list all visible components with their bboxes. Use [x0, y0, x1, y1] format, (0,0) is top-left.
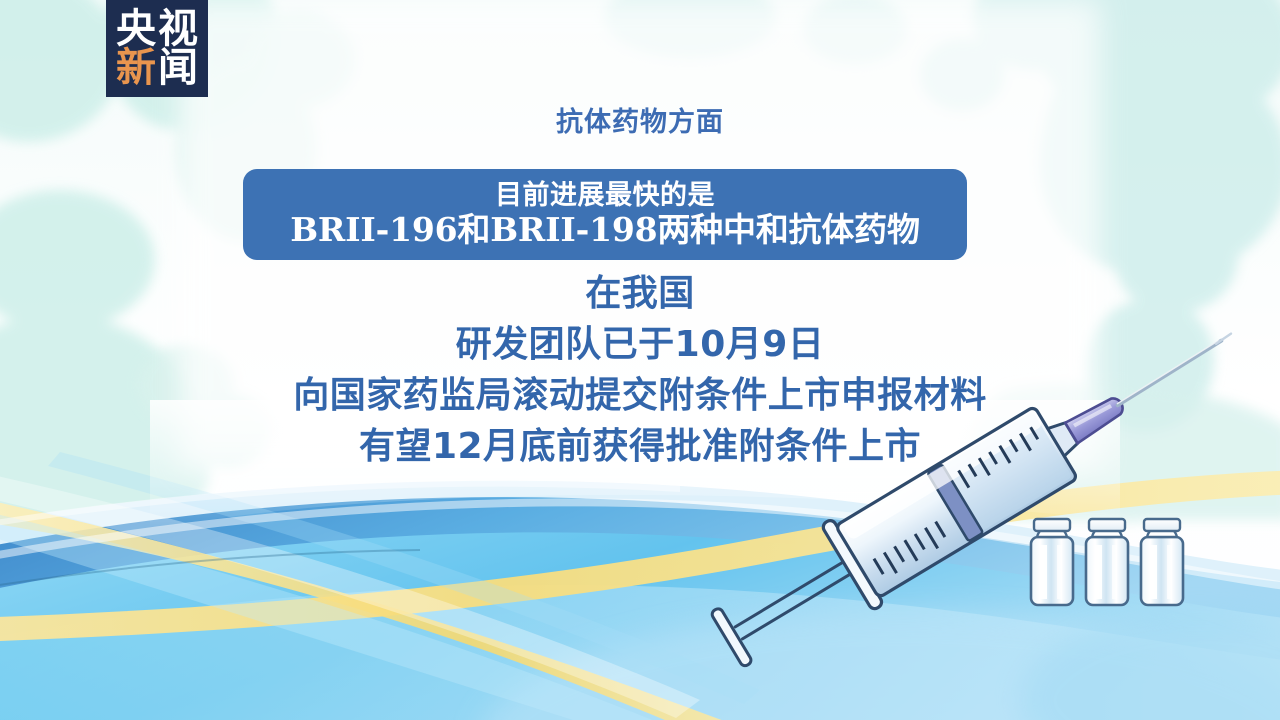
headline-area: 抗体药物方面 — [0, 0, 1280, 138]
banner-line-1: 目前进展最快的是 — [495, 180, 715, 211]
banner-line-2: BRII-196和BRII-198两种中和抗体药物 — [290, 211, 920, 250]
body-line-2: 研发团队已于10月9日 — [0, 319, 1280, 370]
vial-icon — [1141, 519, 1183, 605]
highlight-banner: 目前进展最快的是 BRII-196和BRII-198两种中和抗体药物 — [243, 169, 967, 260]
vial-icon — [1031, 519, 1073, 605]
body-text-block: 在我国 研发团队已于10月9日 向国家药监局滚动提交附条件上市申报材料 有望12… — [0, 268, 1280, 472]
body-line-4: 有望12月底前获得批准附条件上市 — [0, 421, 1280, 472]
body-line-1: 在我国 — [0, 268, 1280, 319]
kicker-title: 抗体药物方面 — [0, 108, 1280, 138]
vial-icon — [1086, 519, 1128, 605]
news-graphic-canvas: 央 视 新 闻 抗体药物方面 目前进展最快的是 BRII-196和BRII-19… — [0, 0, 1280, 720]
body-line-3: 向国家药监局滚动提交附条件上市申报材料 — [0, 370, 1280, 421]
vial-group — [1031, 519, 1183, 605]
